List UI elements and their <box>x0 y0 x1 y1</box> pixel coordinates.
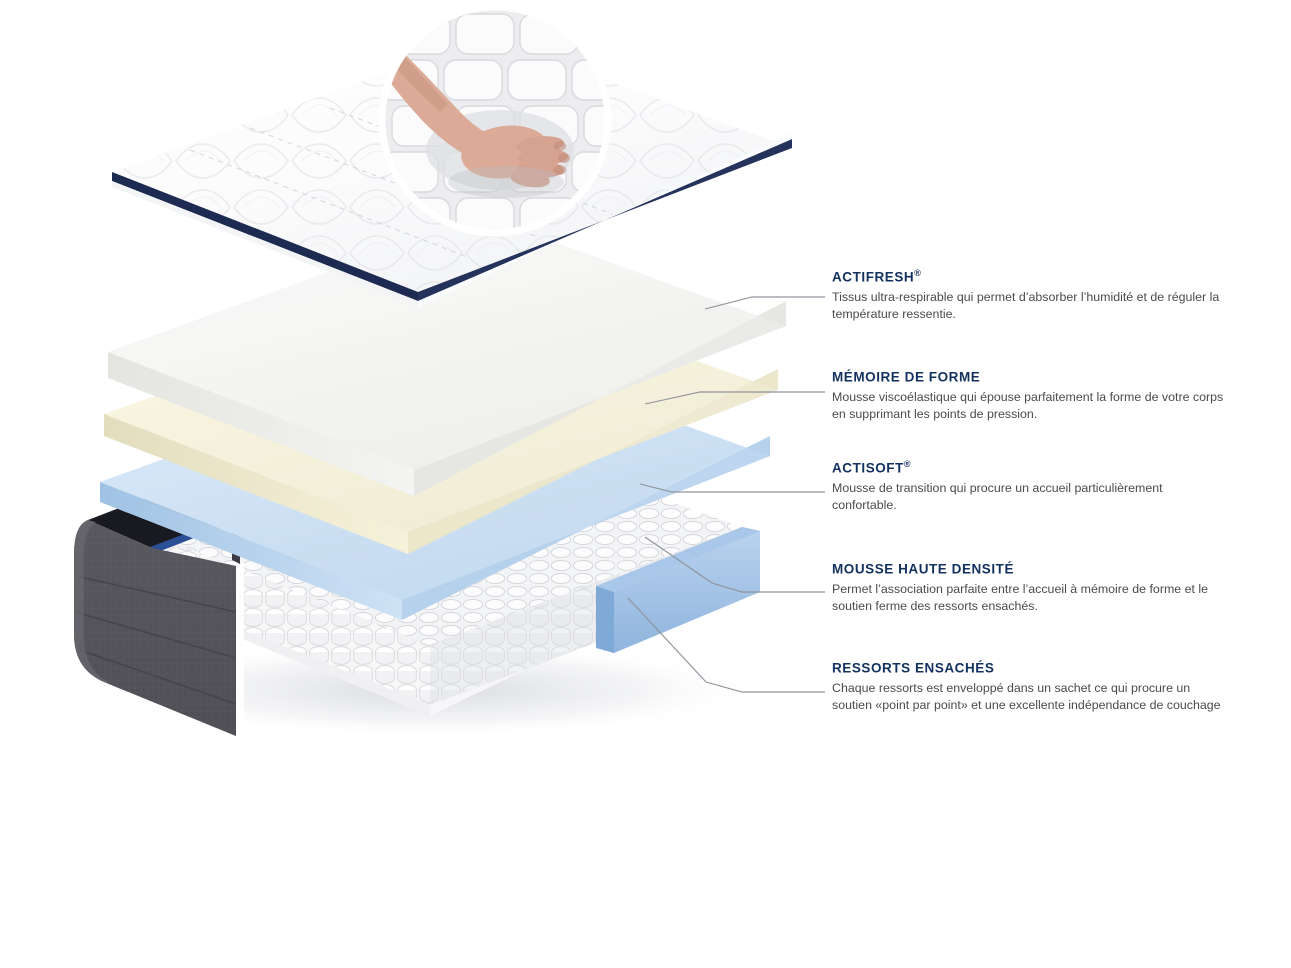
registered-trademark-icon: ® <box>904 459 911 469</box>
callout-ressorts-title-text: RESSORTS ENSACHÉS <box>832 661 994 676</box>
callout-actifresh: ACTIFRESH® Tissus ultra-respirable qui p… <box>832 269 1224 323</box>
callout-actifresh-title-text: ACTIFRESH <box>832 270 914 285</box>
callout-actisoft-body: Mousse de transition qui procure un accu… <box>832 480 1224 514</box>
callout-haute-densite-body: Permet l’association parfaite entre l’ac… <box>832 581 1232 615</box>
callout-haute-densite-title-text: MOUSSE HAUTE DENSITÉ <box>832 562 1014 577</box>
infographic-canvas: ACTIFRESH® Tissus ultra-respirable qui p… <box>0 0 1291 968</box>
callout-ressorts-ensaches: RESSORTS ENSACHÉS Chaque ressorts est en… <box>832 660 1232 714</box>
callout-memoire-body: Mousse viscoélastique qui épouse parfait… <box>832 389 1224 423</box>
callout-actifresh-body: Tissus ultra-respirable qui permet d’abs… <box>832 289 1224 323</box>
callout-actisoft-title-text: ACTISOFT <box>832 461 904 476</box>
callout-ressorts-body: Chaque ressorts est enveloppé dans un sa… <box>832 680 1232 714</box>
callout-memoire-title: MÉMOIRE DE FORME <box>832 369 1224 385</box>
callout-actisoft: ACTISOFT® Mousse de transition qui procu… <box>832 460 1224 514</box>
registered-trademark-icon: ® <box>914 268 921 278</box>
callout-ressorts-title: RESSORTS ENSACHÉS <box>832 660 1232 676</box>
callout-mousse-haute-densite: MOUSSE HAUTE DENSITÉ Permet l’associatio… <box>832 561 1232 615</box>
callout-haute-densite-title: MOUSSE HAUTE DENSITÉ <box>832 561 1232 577</box>
callout-memoire-title-text: MÉMOIRE DE FORME <box>832 370 980 385</box>
callout-actifresh-title: ACTIFRESH® <box>832 269 1224 285</box>
callout-actisoft-title: ACTISOFT® <box>832 460 1224 476</box>
exploded-mattress-illustration <box>0 0 860 800</box>
callout-memoire-de-forme: MÉMOIRE DE FORME Mousse viscoélastique q… <box>832 369 1224 423</box>
